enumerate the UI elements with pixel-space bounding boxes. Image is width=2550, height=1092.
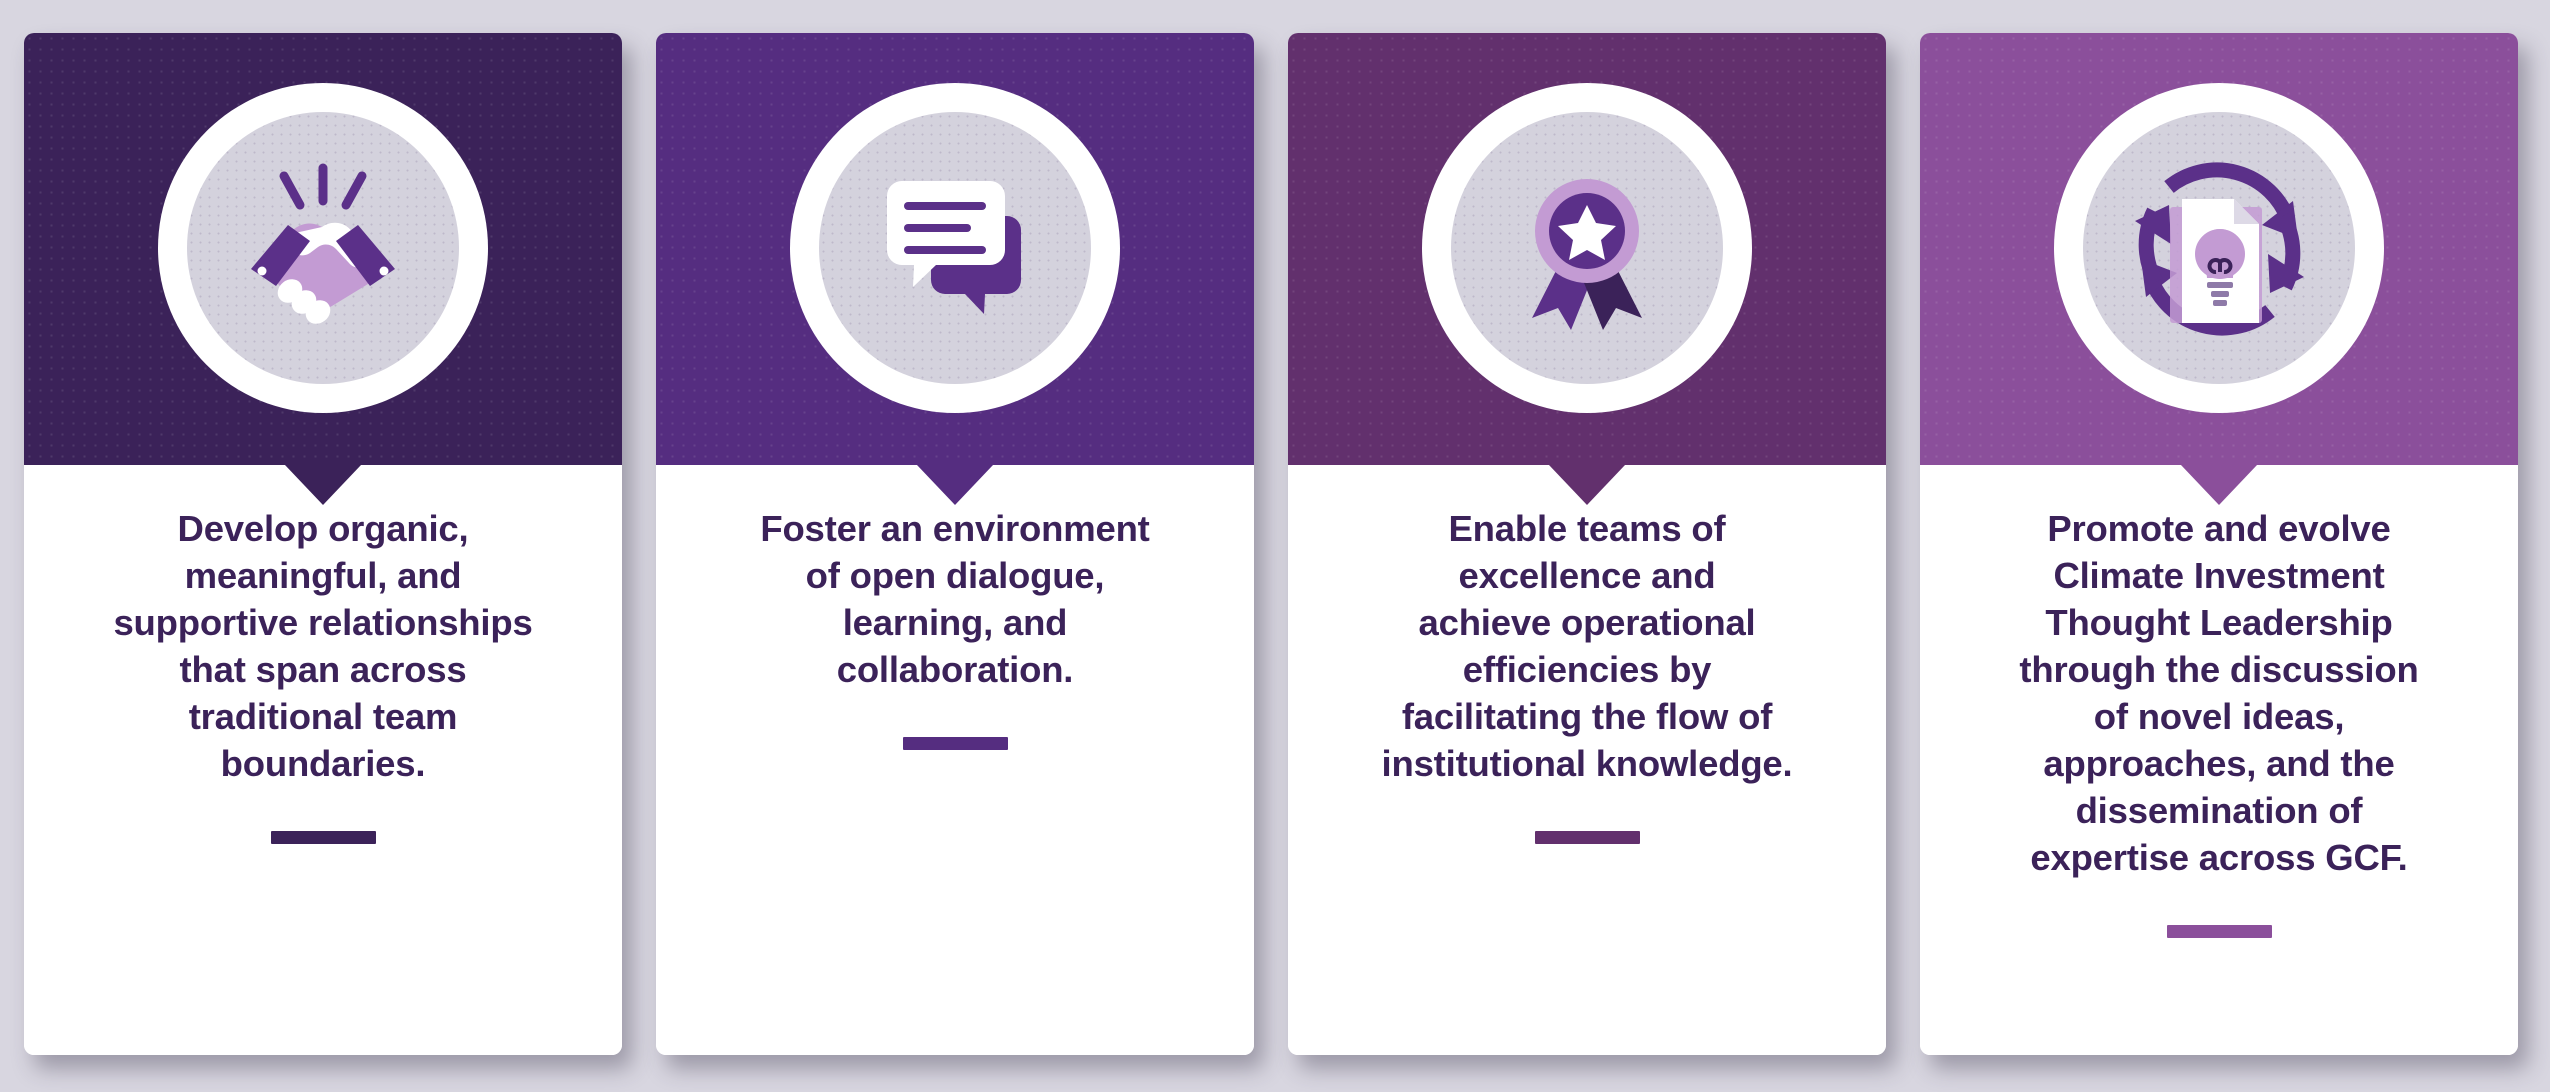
document-idea-cycle-icon (2112, 141, 2327, 356)
card-body: Develop organic,meaningful, andsupportiv… (24, 505, 622, 1055)
card-surface: Promote and evolveClimate InvestmentThou… (1920, 33, 2518, 1055)
card-text: Promote and evolveClimate InvestmentThou… (2019, 505, 2418, 881)
card-text: Foster an environmentof open dialogue,le… (760, 505, 1149, 693)
value-card-thought-leadership[interactable]: Promote and evolveClimate InvestmentThou… (1920, 33, 2518, 1055)
icon-ring (790, 83, 1120, 413)
header-pointer (285, 465, 361, 505)
accent-rule (2167, 925, 2272, 938)
icon-disc (819, 112, 1091, 384)
header-pointer (2181, 465, 2257, 505)
handshake-icon (218, 143, 428, 353)
icon-ring (158, 83, 488, 413)
card-surface: Develop organic,meaningful, andsupportiv… (24, 33, 622, 1055)
icon-ring (2054, 83, 2384, 413)
card-surface: Foster an environmentof open dialogue,le… (656, 33, 1254, 1055)
card-body: Promote and evolveClimate InvestmentThou… (1920, 505, 2518, 1055)
header-pointer (1549, 465, 1625, 505)
header-pointer (917, 465, 993, 505)
icon-disc (187, 112, 459, 384)
card-board: Develop organic,meaningful, andsupportiv… (0, 0, 2550, 1092)
card-body: Foster an environmentof open dialogue,le… (656, 505, 1254, 1055)
value-card-excellence[interactable]: Enable teams ofexcellence andachieve ope… (1288, 33, 1886, 1055)
accent-rule (1535, 831, 1640, 844)
accent-rule (903, 737, 1008, 750)
chat-bubbles-icon (860, 153, 1050, 343)
icon-ring (1422, 83, 1752, 413)
icon-disc (1451, 112, 1723, 384)
card-text: Enable teams ofexcellence andachieve ope… (1382, 505, 1793, 787)
card-text: Develop organic,meaningful, andsupportiv… (113, 505, 532, 787)
value-card-dialogue[interactable]: Foster an environmentof open dialogue,le… (656, 33, 1254, 1055)
accent-rule (271, 831, 376, 844)
award-ribbon-icon (1492, 153, 1682, 343)
card-surface: Enable teams ofexcellence andachieve ope… (1288, 33, 1886, 1055)
card-body: Enable teams ofexcellence andachieve ope… (1288, 505, 1886, 1055)
icon-disc (2083, 112, 2355, 384)
value-card-relationships[interactable]: Develop organic,meaningful, andsupportiv… (24, 33, 622, 1055)
